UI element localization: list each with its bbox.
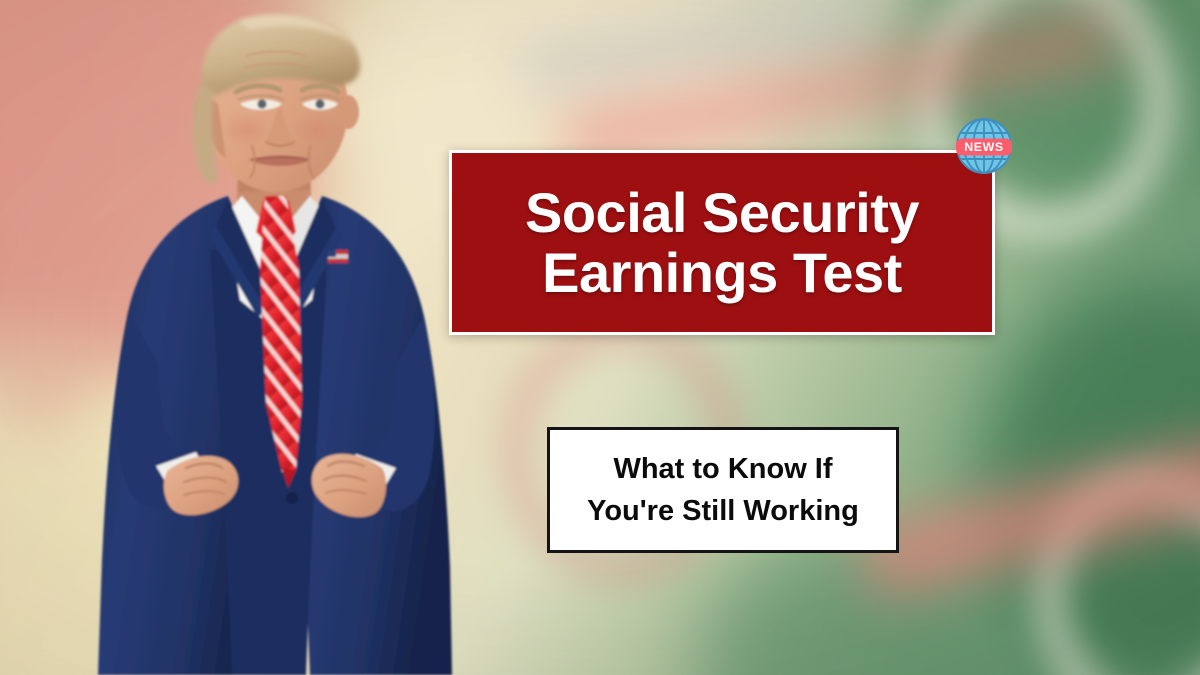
title-banner: Social Security Earnings Test (449, 150, 995, 335)
news-pill: NEWS (956, 139, 1012, 156)
subject-photo (60, 0, 490, 675)
subtitle-line-2: You're Still Working (587, 490, 859, 532)
subtitle-line-1: What to Know If (613, 448, 832, 490)
news-badge: NEWS (951, 113, 1017, 179)
title-line-1: Social Security (525, 183, 919, 242)
subtitle-box: What to Know If You're Still Working (547, 427, 899, 553)
title-line-2: Earnings Test (542, 243, 902, 302)
thumbnail-canvas: Social Security Earnings Test NEWS (0, 0, 1200, 675)
svg-text:NEWS: NEWS (964, 140, 1004, 154)
